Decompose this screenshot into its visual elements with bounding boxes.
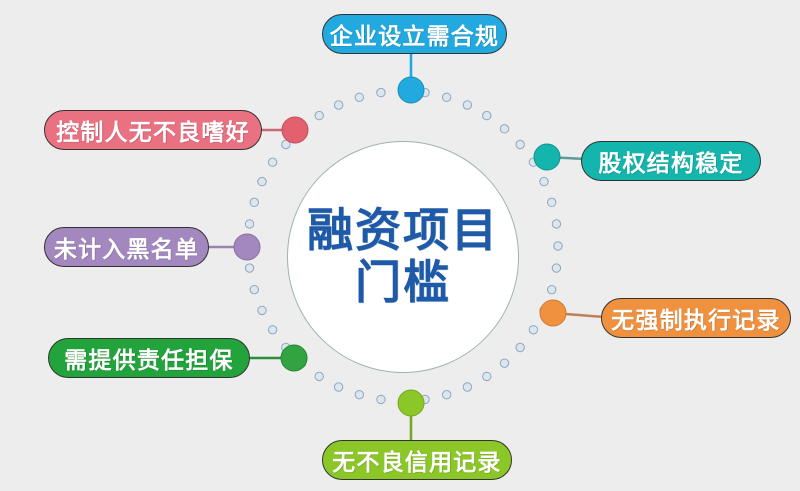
ring-dot — [245, 264, 253, 272]
ring-dot — [377, 395, 385, 403]
ring-dot — [315, 111, 323, 119]
ring-dot — [463, 383, 471, 391]
branch-label-lower-left[interactable]: 需提供责任担保 — [48, 338, 250, 378]
ring-dot — [540, 177, 548, 185]
ring-dot — [483, 372, 491, 380]
branch-node-top — [398, 77, 424, 103]
center-hub: 融资项目 门槛 — [287, 141, 519, 373]
branch-node-upper-left — [282, 117, 308, 143]
ring-dot — [548, 285, 556, 293]
branch-node-upper-right — [534, 144, 560, 170]
ring-dot — [250, 198, 258, 206]
branch-node-left — [234, 234, 260, 260]
branch-node-lower-left — [281, 345, 307, 371]
ring-dot — [500, 125, 508, 133]
ring-dot — [334, 383, 342, 391]
ring-dot — [548, 198, 556, 206]
ring-dot — [315, 372, 323, 380]
branch-label-bottom[interactable]: 无不良信用记录 — [322, 440, 512, 480]
branch-label-top[interactable]: 企业设立需合规 — [322, 14, 507, 54]
ring-dot — [377, 88, 385, 96]
ring-dot — [554, 242, 562, 250]
center-hub-label: 融资项目 门槛 — [307, 205, 499, 308]
ring-dot — [258, 306, 266, 314]
ring-dot — [268, 158, 276, 166]
ring-dot — [355, 391, 363, 399]
ring-dot — [250, 285, 258, 293]
ring-dot — [552, 264, 560, 272]
ring-dot — [516, 140, 524, 148]
diagram-canvas: 融资项目 门槛 企业设立需合规 控制人无不良嗜好 未计入黑名单 需提供责任担保 … — [0, 0, 800, 491]
branch-node-bottom — [398, 390, 424, 416]
ring-dot — [552, 220, 560, 228]
ring-dot — [442, 391, 450, 399]
ring-dot — [500, 359, 508, 367]
branch-node-lower-right — [540, 300, 566, 326]
branch-label-upper-left[interactable]: 控制人无不良嗜好 — [44, 110, 262, 150]
ring-dot — [355, 93, 363, 101]
ring-dot — [334, 101, 342, 109]
branch-label-lower-right[interactable]: 无强制执行记录 — [601, 298, 791, 338]
ring-dot — [258, 177, 266, 185]
branch-label-upper-right[interactable]: 股权结构稳定 — [581, 141, 761, 181]
ring-dot — [442, 93, 450, 101]
ring-dot — [268, 326, 276, 334]
ring-dot — [483, 111, 491, 119]
ring-dot — [529, 326, 537, 334]
ring-dot — [463, 101, 471, 109]
ring-dot — [245, 220, 253, 228]
branch-label-left[interactable]: 未计入黑名单 — [44, 227, 209, 267]
ring-dot — [516, 343, 524, 351]
